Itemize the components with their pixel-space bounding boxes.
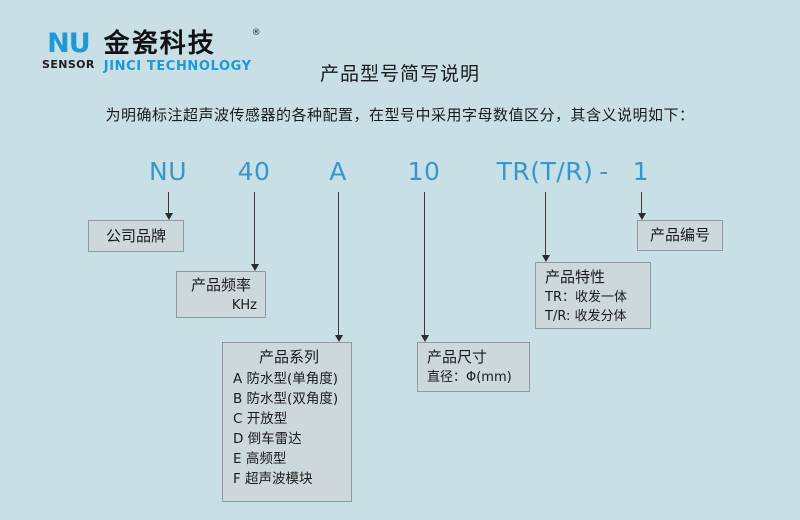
box-company-brand: 公司品牌 (88, 220, 184, 252)
box-product-feature-line-tr-split: T/R: 收发分体 (545, 307, 644, 326)
connector-line-feature (545, 192, 546, 256)
box-product-frequency-unit: KHz (185, 296, 257, 315)
box-product-serial-title: 产品编号 (650, 225, 710, 246)
page-title: 产品型号简写说明 (0, 61, 800, 87)
box-product-frequency-title: 产品频率 (185, 275, 257, 296)
box-product-series: 产品系列 A 防水型(单角度)B 防水型(双角度)C 开放型D 倒车雷达E 高频… (222, 342, 352, 502)
connector-line-series (338, 192, 339, 336)
box-product-series-list: A 防水型(单角度)B 防水型(双角度)C 开放型D 倒车雷达E 高频型F 超声… (233, 369, 345, 489)
box-product-feature-title: 产品特性 (545, 267, 644, 288)
logo-company-cn: 金瓷科技 ® (104, 30, 252, 58)
box-product-series-item: D 倒车雷达 (233, 429, 345, 449)
box-product-size-detail: 直径：Φ(mm) (427, 368, 523, 387)
arrowhead-icon-freq (251, 264, 259, 271)
box-company-brand-title: 公司品牌 (106, 226, 166, 247)
box-product-serial: 产品编号 (637, 220, 723, 251)
box-product-size: 产品尺寸 直径：Φ(mm) (417, 342, 530, 392)
model-part-6: 1 (633, 157, 649, 187)
diagram-canvas: NU SENSOR 金瓷科技 ® JINCI TECHNOLOGY 产品型号简写… (0, 0, 800, 520)
page-subtitle: 为明确标注超声波传感器的各种配置，在型号中采用字母数值区分，其含义说明如下： (0, 104, 800, 126)
arrowhead-icon-series (335, 335, 343, 342)
arrowhead-icon-serial (638, 213, 646, 220)
model-part-3: 10 (408, 157, 441, 187)
arrowhead-icon-size (421, 335, 429, 342)
box-product-series-item: A 防水型(单角度) (233, 369, 345, 389)
model-part-2: A (329, 157, 347, 187)
logo-nu-text: NU (42, 30, 95, 57)
registered-trademark-icon: ® (252, 29, 263, 38)
connector-line-brand (168, 192, 169, 214)
box-product-size-title: 产品尺寸 (427, 347, 523, 368)
model-part-5: - (599, 157, 609, 187)
box-product-frequency: 产品频率 KHz (176, 271, 266, 318)
arrowhead-icon-feature (542, 255, 550, 262)
box-product-feature: 产品特性 TR：收发一体 T/R: 收发分体 (535, 262, 651, 329)
connector-line-serial (641, 192, 642, 214)
model-part-4: TR(T/R) (497, 157, 594, 187)
connector-line-freq (254, 192, 255, 265)
connector-line-size (424, 192, 425, 336)
box-product-feature-line-tr: TR：收发一体 (545, 288, 644, 307)
box-product-series-item: B 防水型(双角度) (233, 389, 345, 409)
model-part-1: 40 (238, 157, 271, 187)
box-product-series-item: C 开放型 (233, 409, 345, 429)
arrowhead-icon-brand (165, 213, 173, 220)
box-product-series-item: F 超声波模块 (233, 469, 345, 489)
box-product-series-title: 产品系列 (233, 347, 345, 368)
model-part-0: NU (149, 157, 187, 187)
logo-company-cn-text: 金瓷科技 (104, 29, 216, 59)
box-product-series-item: E 高频型 (233, 449, 345, 469)
